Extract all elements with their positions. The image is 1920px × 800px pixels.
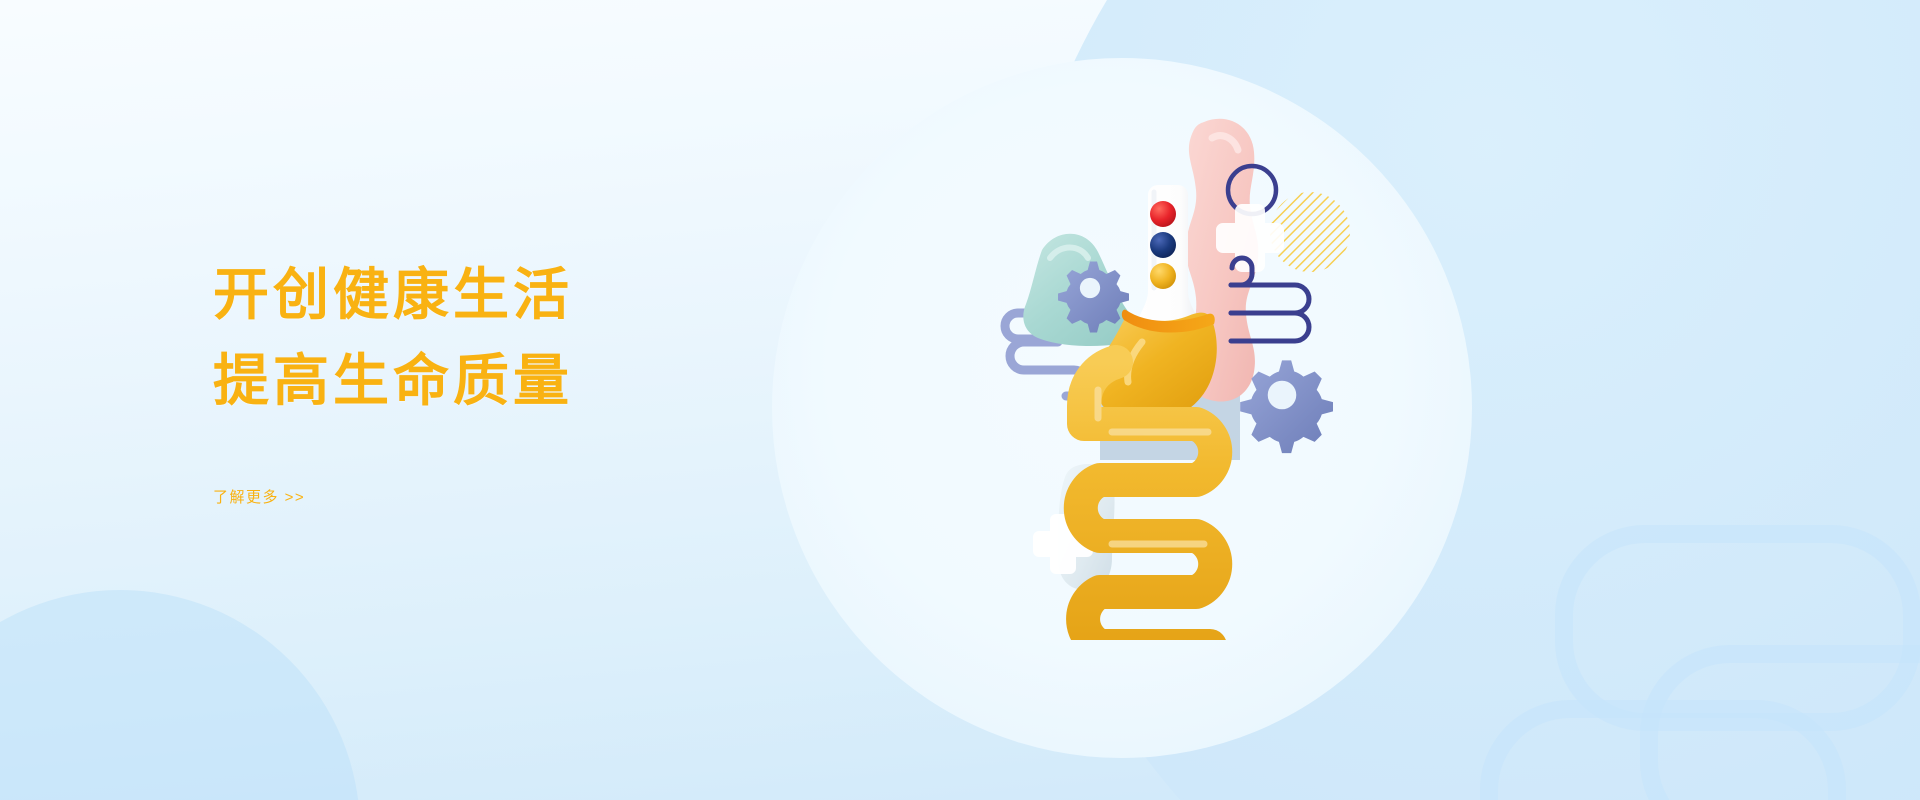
digestive-system-illustration bbox=[860, 80, 1420, 640]
learn-more-link[interactable]: 了解更多 >> bbox=[213, 486, 305, 507]
background-pill-outline-1 bbox=[1555, 525, 1920, 731]
gear-large-icon bbox=[1240, 360, 1333, 453]
background-circle-bottom-left bbox=[0, 590, 360, 800]
hero-copy: 开创健康生活 提高生命质量 了解更多 >> bbox=[213, 252, 833, 507]
pill-dot-navy bbox=[1150, 232, 1176, 258]
pill-dot-amber bbox=[1150, 263, 1176, 289]
hero-banner: 开创健康生活 提高生命质量 了解更多 >> bbox=[0, 0, 1920, 800]
headline-line-2: 提高生命质量 bbox=[213, 338, 833, 424]
pill-dot-red bbox=[1150, 201, 1176, 227]
headline-line-1: 开创健康生活 bbox=[213, 252, 833, 338]
background-pill-outline-3 bbox=[1480, 700, 1846, 800]
background-pill-outline-2 bbox=[1640, 645, 1920, 800]
